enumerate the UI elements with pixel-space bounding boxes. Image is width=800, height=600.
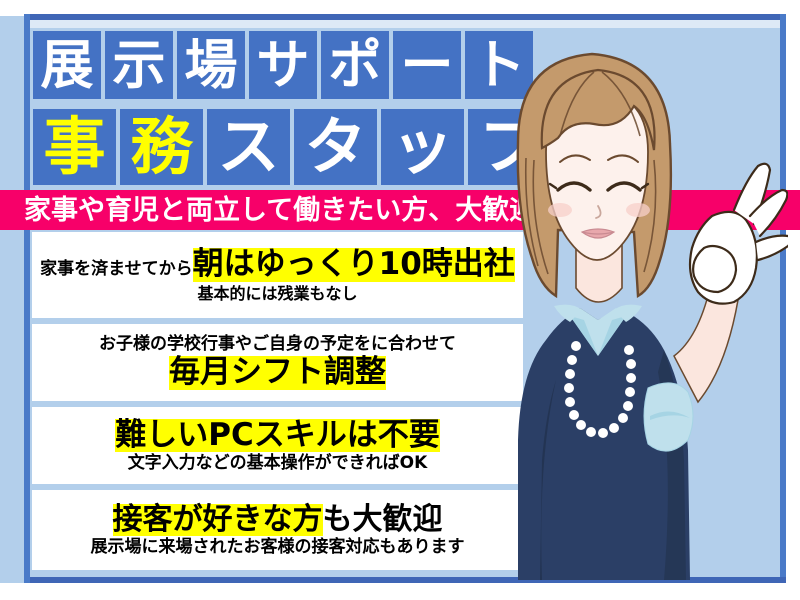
feature-lead-text: 家事を済ませてから	[40, 260, 193, 278]
feature-headline: 朝はゆっくり10時出社	[193, 248, 515, 281]
title-char-box: ス	[207, 109, 290, 185]
feature-subtext: 文字入力などの基本操作ができればOK	[128, 454, 428, 472]
title-char-box: 場	[177, 31, 245, 99]
feature-headline-row: 家事を済ませてから朝はゆっくり10時出社	[40, 248, 515, 281]
poster-root: 展 示 場 サ ポ ー ト 事 務 ス タ ッ フ 家事や育児と両立して働きたい…	[0, 0, 800, 600]
feature-headline-row: 毎月シフト調整	[169, 356, 386, 389]
frame-inner-highlight	[30, 20, 780, 28]
title-char-box: タ	[294, 109, 377, 185]
title-char-box: 展	[33, 31, 101, 99]
feature-headline-row: 接客が好きな方も大歓迎	[113, 504, 443, 536]
title-char-box: ッ	[381, 109, 464, 185]
feature-block: 家事を済ませてから朝はゆっくり10時出社 基本的には残業もなし	[32, 232, 523, 318]
frame-border-left	[24, 14, 30, 583]
frame-border-right	[780, 14, 786, 583]
frame-border-top	[24, 14, 786, 20]
title-char-box: ー	[393, 31, 461, 99]
title-char-box: 務	[120, 109, 203, 185]
feature-block: 接客が好きな方も大歓迎 展示場に来場されたお客様の接客対応もあります	[32, 490, 523, 570]
title-char-box: フ	[468, 109, 551, 185]
feature-block: 難しいPCスキルは不要 文字入力などの基本操作ができればOK	[32, 407, 523, 484]
feature-toptext: お子様の学校行事やご自身の予定をに合わせて	[99, 335, 456, 353]
feature-subtext: 展示場に来場されたお客様の接客対応もあります	[91, 538, 465, 556]
title-line-2: 事 務 ス タ ッ フ	[33, 109, 551, 185]
title-char-box: 事	[33, 109, 116, 185]
title-line-1: 展 示 場 サ ポ ー ト	[33, 31, 533, 99]
feature-block: お子様の学校行事やご自身の予定をに合わせて 毎月シフト調整	[32, 324, 523, 401]
feature-headline: 接客が好きな方	[113, 504, 323, 536]
catch-banner-text: 家事や育児と両立して働きたい方、大歓迎！	[24, 197, 563, 224]
feature-headline: 難しいPCスキルは不要	[115, 419, 439, 452]
feature-headline-row: 難しいPCスキルは不要	[115, 419, 439, 452]
title-char-box: ポ	[321, 31, 389, 99]
title-char-box: ト	[465, 31, 533, 99]
title-char-box: 示	[105, 31, 173, 99]
feature-subtext: 基本的には残業もなし	[197, 285, 357, 302]
title-char-box: サ	[249, 31, 317, 99]
catch-banner: 家事や育児と両立して働きたい方、大歓迎！	[0, 190, 800, 230]
feature-headline-tail: も大歓迎	[323, 504, 443, 536]
frame-border-bottom	[24, 577, 786, 583]
feature-headline: 毎月シフト調整	[169, 356, 386, 389]
